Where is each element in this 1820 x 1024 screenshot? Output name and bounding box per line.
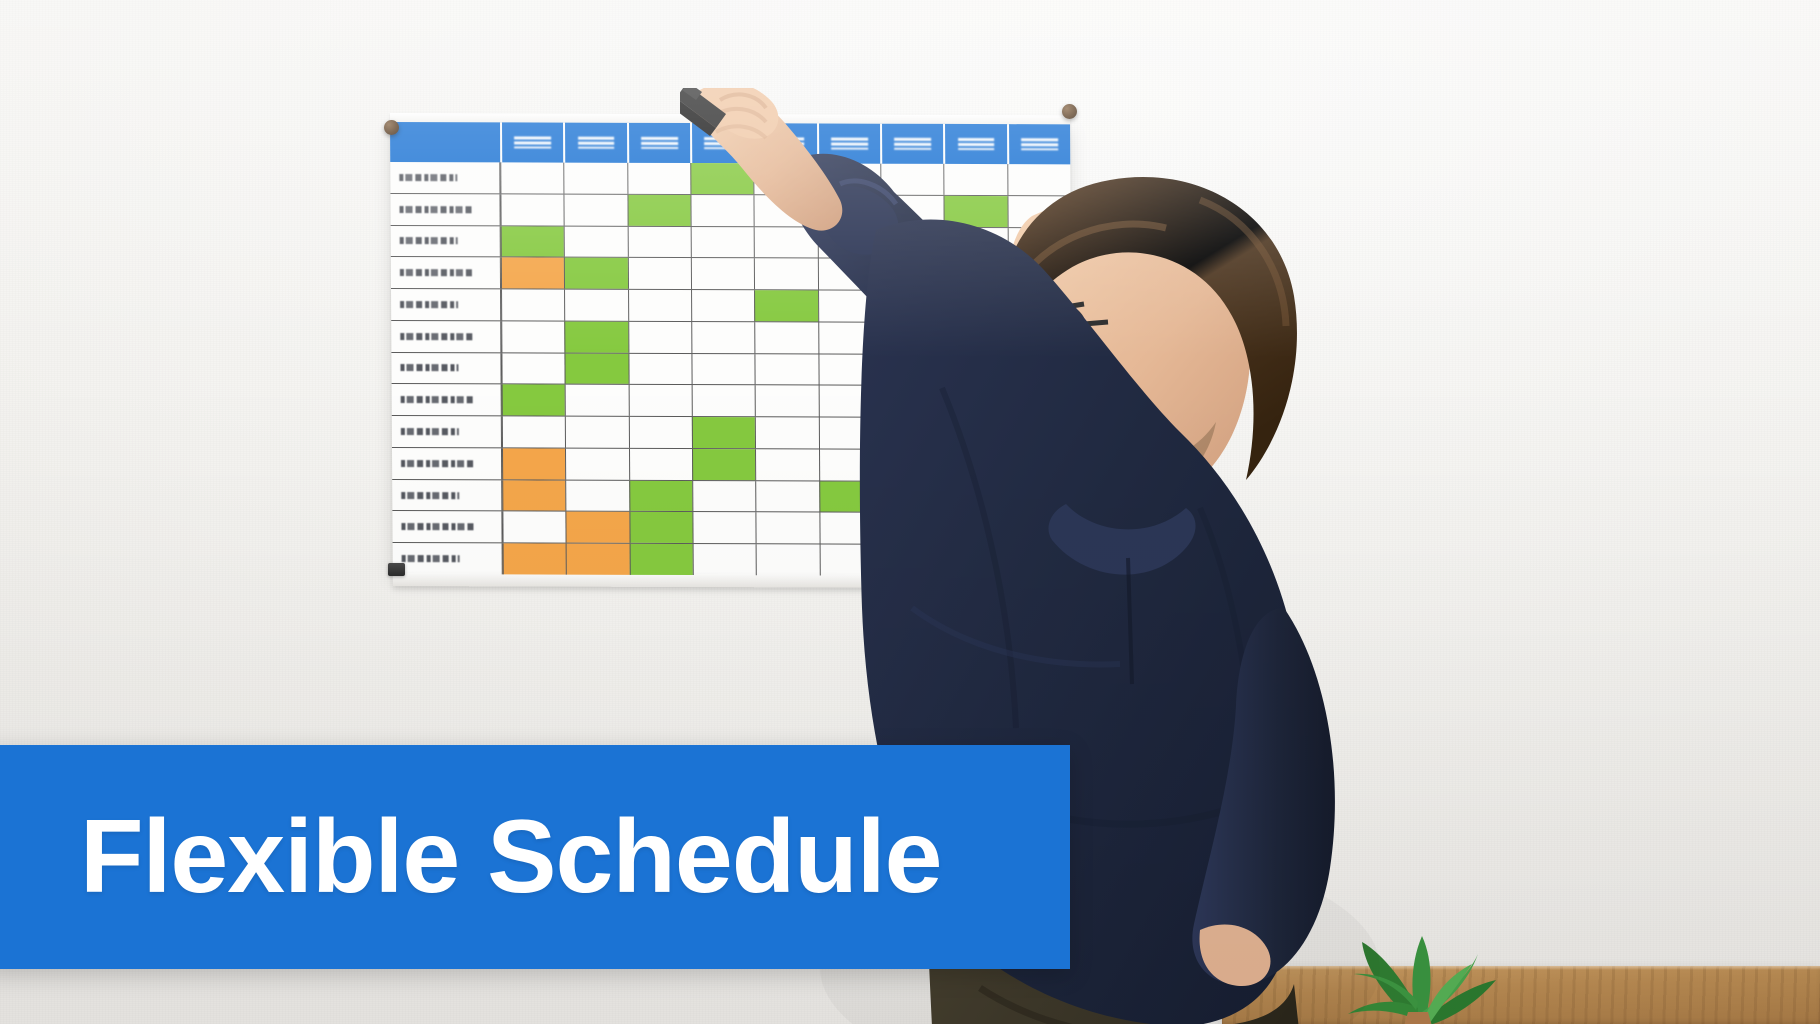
schedule-cell[interactable] bbox=[500, 162, 564, 193]
row-label-cell bbox=[392, 384, 502, 415]
schedule-cell[interactable] bbox=[500, 194, 564, 225]
row-label-text bbox=[401, 492, 459, 499]
schedule-cell[interactable] bbox=[501, 289, 565, 320]
row-label-cell bbox=[391, 226, 501, 257]
schedule-cell[interactable] bbox=[565, 417, 629, 448]
schedule-cell[interactable] bbox=[502, 448, 566, 479]
row-label-cell bbox=[393, 543, 503, 574]
row-label-cell bbox=[390, 194, 500, 225]
schedule-cell[interactable] bbox=[501, 258, 565, 289]
row-label-text bbox=[400, 364, 458, 371]
row-label-cell bbox=[391, 257, 501, 288]
row-label-text bbox=[400, 237, 458, 244]
schedule-cell[interactable] bbox=[565, 321, 629, 352]
row-label-text bbox=[400, 333, 475, 340]
column-header-label-3 bbox=[641, 135, 678, 151]
schedule-cell[interactable] bbox=[502, 480, 566, 511]
row-label-cell bbox=[392, 511, 502, 542]
row-label-text bbox=[401, 428, 459, 435]
column-header-label-1 bbox=[514, 134, 551, 150]
row-label-text bbox=[400, 301, 458, 308]
schedule-cell[interactable] bbox=[565, 448, 629, 479]
row-label-text bbox=[400, 206, 475, 213]
schedule-cell[interactable] bbox=[564, 163, 628, 194]
row-label-text bbox=[402, 555, 460, 562]
row-label-cell bbox=[391, 289, 501, 320]
row-label-cell bbox=[390, 162, 500, 193]
schedule-cell[interactable] bbox=[566, 480, 630, 511]
row-label-cell bbox=[391, 321, 501, 352]
row-label-text bbox=[401, 460, 476, 467]
schedule-cell[interactable] bbox=[566, 512, 630, 543]
column-header-label-2 bbox=[578, 135, 615, 151]
board-bottom-clip bbox=[388, 563, 405, 576]
row-label-cell bbox=[392, 448, 502, 479]
header-corner-cell bbox=[390, 122, 500, 162]
caption-banner: Flexible Schedule bbox=[0, 745, 1070, 969]
column-header-2[interactable] bbox=[563, 123, 627, 163]
column-header-1[interactable] bbox=[500, 122, 564, 162]
row-label-cell bbox=[391, 353, 501, 384]
schedule-cell[interactable] bbox=[564, 226, 628, 257]
row-label-text bbox=[401, 523, 476, 530]
schedule-cell[interactable] bbox=[502, 512, 566, 543]
schedule-cell[interactable] bbox=[564, 194, 628, 225]
row-label-text bbox=[400, 269, 475, 276]
schedule-cell[interactable] bbox=[502, 417, 566, 448]
schedule-cell[interactable] bbox=[566, 544, 630, 575]
row-label-cell bbox=[392, 480, 502, 511]
schedule-cell[interactable] bbox=[501, 321, 565, 352]
row-label-text bbox=[401, 396, 476, 403]
row-label-cell bbox=[392, 416, 502, 447]
schedule-cell[interactable] bbox=[503, 544, 567, 575]
schedule-cell[interactable] bbox=[565, 353, 629, 384]
schedule-cell[interactable] bbox=[564, 258, 628, 289]
schedule-cell[interactable] bbox=[564, 290, 628, 321]
scene-root: Flexible Schedule bbox=[0, 0, 1820, 1024]
schedule-cell[interactable] bbox=[565, 385, 629, 416]
row-label-text bbox=[399, 174, 457, 181]
pin-icon-left bbox=[384, 120, 399, 135]
schedule-cell[interactable] bbox=[502, 385, 566, 416]
schedule-cell[interactable] bbox=[501, 353, 565, 384]
banner-title: Flexible Schedule bbox=[80, 805, 942, 909]
schedule-cell[interactable] bbox=[501, 226, 565, 257]
